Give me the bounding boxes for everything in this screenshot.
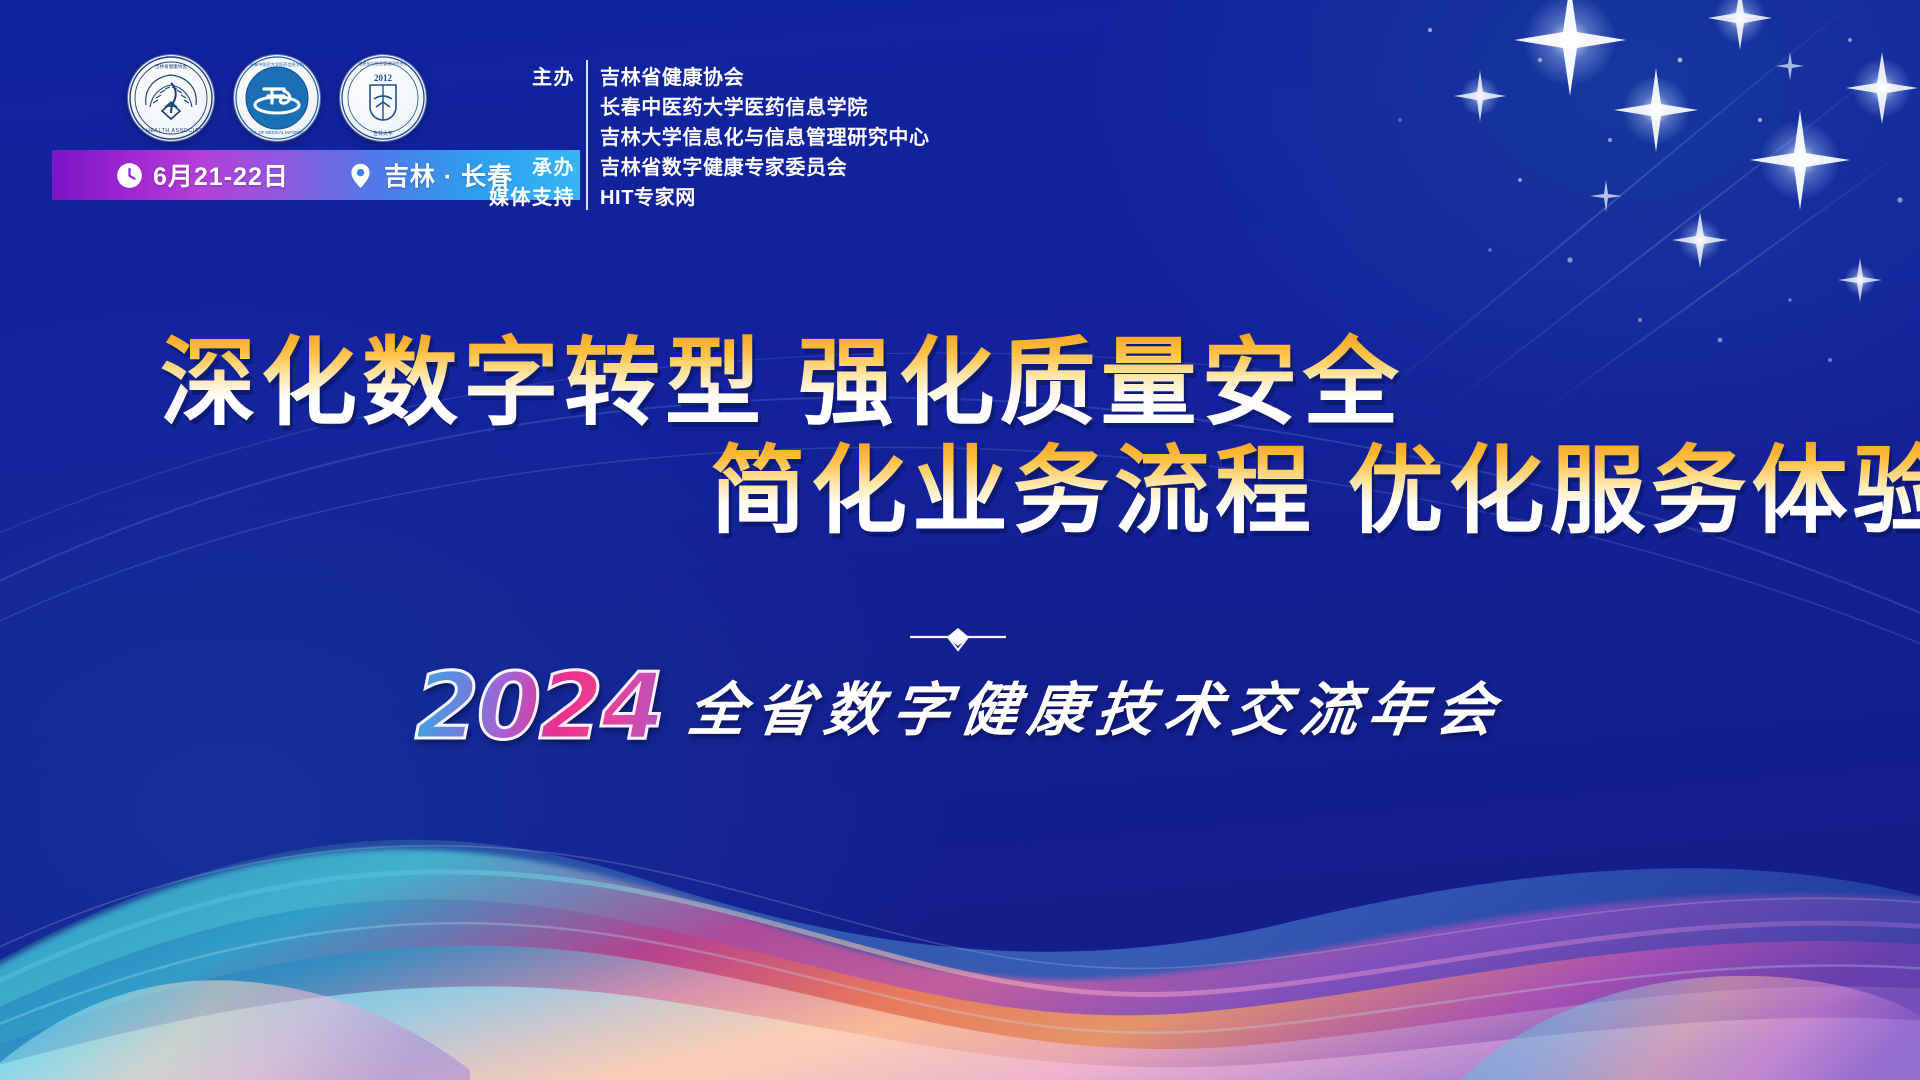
organizer-label: 承办 [488, 151, 586, 180]
organizer-divider [586, 90, 588, 120]
svg-text:吉林省健康协会: 吉林省健康协会 [155, 63, 188, 70]
svg-text:吉林大学: 吉林大学 [373, 130, 393, 137]
svg-text:SCHOOL OF MEDICAL INFORMATION: SCHOOL OF MEDICAL INFORMATION [240, 130, 314, 135]
organizer-divider [586, 60, 588, 90]
banner-canvas: JILIN HEALTH ASSOCIATION 吉林省健康协会 SCHOOL … [0, 0, 1920, 1080]
organizer-divider [586, 180, 588, 210]
jilin-health-association-seal: JILIN HEALTH ASSOCIATION 吉林省健康协会 [128, 55, 214, 141]
date-group: 6月21-22日 [116, 157, 289, 193]
organizer-row: 承办 吉林省数字健康专家委员会 [488, 150, 930, 180]
svg-text:2012: 2012 [374, 73, 393, 83]
organizer-row: 长春中医药大学医药信息学院 [488, 90, 930, 120]
svg-text:长春中医药大学医药信息学院: 长春中医药大学医药信息学院 [250, 61, 305, 68]
svg-text:信息化与信息管理研究中心: 信息化与信息管理研究中心 [358, 60, 407, 66]
organizer-value: 长春中医药大学医药信息学院 [600, 91, 868, 120]
svg-text:JILIN HEALTH ASSOCIATION: JILIN HEALTH ASSOCIATION [129, 128, 213, 134]
date-text: 6月21-22日 [153, 157, 289, 193]
headline-line-1: 深化数字转型 强化质量安全 [160, 330, 1920, 438]
organizer-value: HIT专家网 [600, 181, 696, 210]
organizer-row: 主办 吉林省健康协会 [488, 60, 930, 90]
organizer-label: 媒体支持 [488, 181, 586, 210]
changchun-university-cm-medical-information-seal: SCHOOL OF MEDICAL INFORMATION 长春中医药大学医药信… [234, 55, 320, 141]
headline-block: 深化数字转型 强化质量安全 简化业务流程 优化服务体验 [0, 330, 1920, 545]
jilin-university-informatization-center-seal: 2012 吉林大学 信息化与信息管理研究中心 [340, 55, 426, 141]
organizer-value: 吉林大学信息化与信息管理研究中心 [600, 121, 930, 150]
organizer-value: 吉林省数字健康专家委员会 [600, 151, 847, 180]
organizer-divider [586, 150, 588, 180]
headline-line-2: 简化业务流程 优化服务体验 [710, 438, 1920, 546]
organizer-divider [586, 120, 588, 150]
organizer-row: 媒体支持 HIT专家网 [488, 180, 930, 210]
organizer-row: 吉林大学信息化与信息管理研究中心 [488, 120, 930, 150]
wave-decoration [0, 660, 1920, 1080]
organizer-info: 主办 吉林省健康协会 长春中医药大学医药信息学院 吉林大学信息化与信息管理研究中… [488, 60, 930, 210]
organizer-value: 吉林省健康协会 [600, 61, 744, 90]
clock-icon [116, 162, 143, 189]
organizer-label: 主办 [488, 61, 586, 90]
diamond-icon [947, 628, 969, 646]
organizer-logos: JILIN HEALTH ASSOCIATION 吉林省健康协会 SCHOOL … [128, 55, 426, 141]
map-pin-icon [347, 162, 374, 189]
